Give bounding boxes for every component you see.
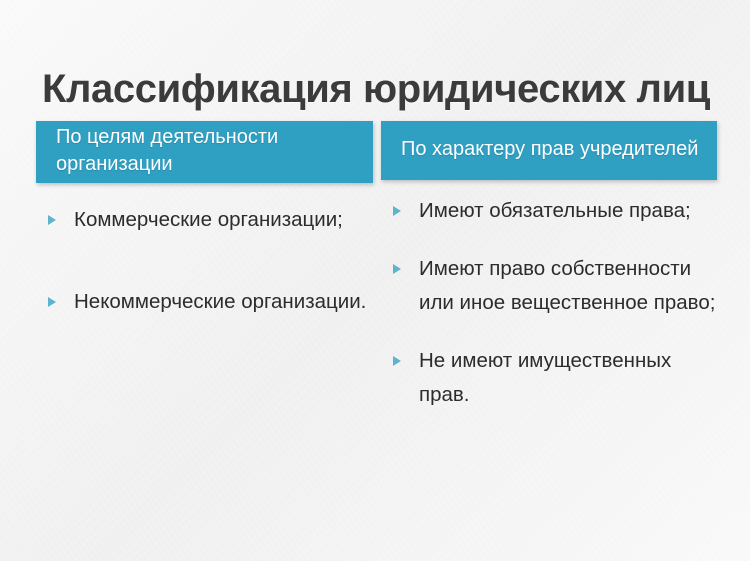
list-item: Имеют право собственности или иное вещес…: [389, 252, 717, 320]
column-right-header-label: По характеру прав учредителей: [401, 136, 698, 163]
triangle-bullet-icon: [48, 215, 56, 225]
column-left-header: По целям деятельности организации: [36, 121, 373, 183]
list-item: Имеют обязательные права;: [389, 194, 717, 228]
list-item-label: Имеют право собственности или иное вещес…: [419, 252, 717, 320]
slide-canvas: Классификация юридических лиц По целям д…: [0, 0, 750, 561]
list-item-label: Имеют обязательные права;: [419, 194, 717, 228]
list-item: Некоммерческие организации.: [44, 285, 373, 319]
column-right-bullet-list: Имеют обязательные права; Имеют право со…: [381, 194, 717, 412]
triangle-bullet-icon: [393, 264, 401, 274]
triangle-bullet-icon: [393, 356, 401, 366]
triangle-bullet-icon: [393, 206, 401, 216]
list-item-label: Некоммерческие организации.: [74, 285, 373, 319]
list-item-label: Не имеют имущественных прав.: [419, 344, 717, 412]
list-item: Не имеют имущественных прав.: [389, 344, 717, 412]
column-right: По характеру прав учредителей Имеют обяз…: [381, 121, 717, 412]
column-left: По целям деятельности организации Коммер…: [36, 121, 373, 319]
content-columns: По целям деятельности организации Коммер…: [0, 0, 750, 561]
list-item-label: Коммерческие организации;: [74, 203, 373, 237]
column-right-header: По характеру прав учредителей: [381, 121, 717, 180]
column-left-bullet-list: Коммерческие организации; Некоммерческие…: [36, 203, 373, 319]
triangle-bullet-icon: [48, 297, 56, 307]
list-item: Коммерческие организации;: [44, 203, 373, 237]
column-left-header-label: По целям деятельности организации: [56, 124, 359, 178]
